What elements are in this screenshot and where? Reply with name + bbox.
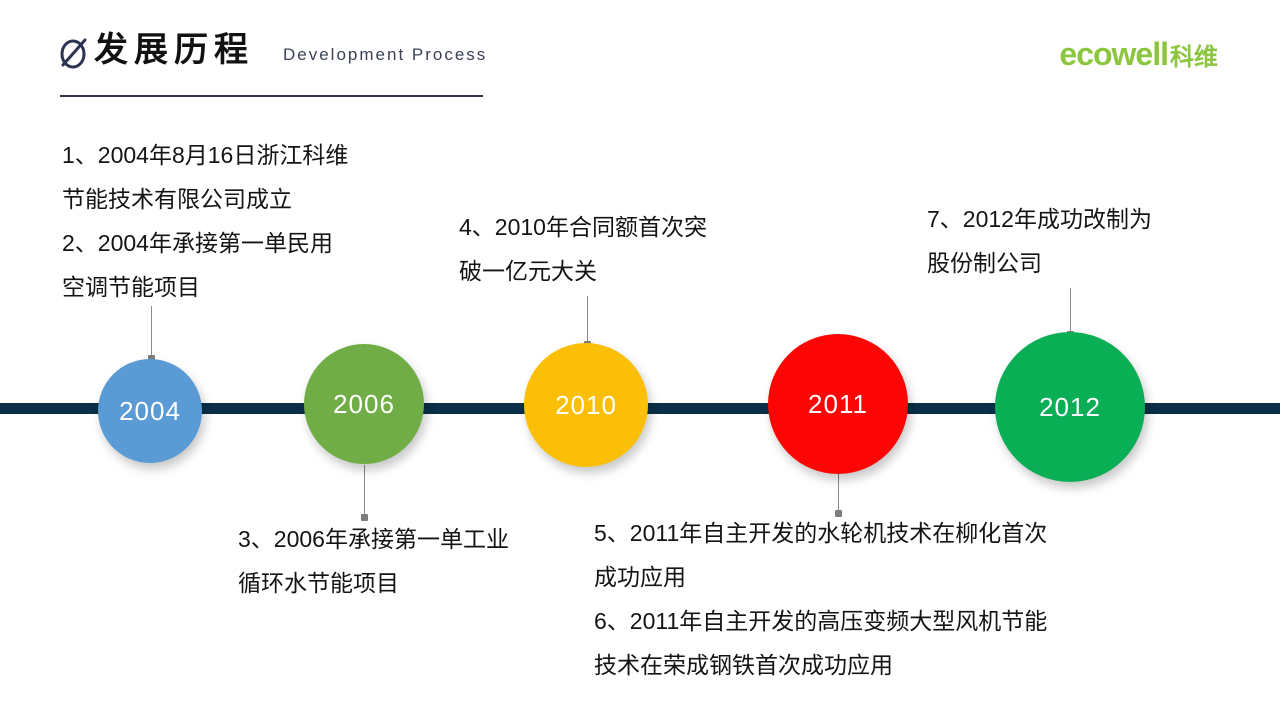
connector-2006 (364, 465, 365, 517)
event-7: 7、2012年成功改制为 股份制公司 (927, 197, 1152, 285)
event-3: 3、2006年承接第一单工业 循环水节能项目 (238, 517, 509, 605)
timeline-node-2010[interactable]: 2010 (524, 343, 648, 467)
timeline-node-label: 2006 (333, 389, 395, 420)
event-5-6: 5、2011年自主开发的水轮机技术在柳化首次 成功应用 6、2011年自主开发的… (594, 511, 1047, 687)
connector-2010 (587, 296, 588, 344)
timeline-node-label: 2012 (1039, 392, 1101, 423)
slide-canvas: 发展历程 Development Process ecowell 科维 2004… (0, 0, 1280, 720)
connector-2012 (1070, 288, 1071, 334)
page-subtitle: Development Process (283, 42, 487, 68)
connector-2011 (838, 473, 839, 513)
slashed-circle-icon (58, 36, 92, 70)
logo-chinese-name: 科维 (1170, 42, 1218, 74)
timeline-node-label: 2011 (808, 389, 868, 420)
header-divider (60, 95, 483, 97)
event-1-2: 1、2004年8月16日浙江科维 节能技术有限公司成立 2、2004年承接第一单… (62, 133, 348, 309)
slide-header: 发展历程 Development Process (58, 28, 698, 98)
page-title: 发展历程 (94, 28, 254, 72)
timeline-node-2004[interactable]: 2004 (98, 359, 202, 463)
timeline-node-label: 2010 (555, 390, 617, 421)
timeline-node-label: 2004 (119, 396, 181, 427)
timeline-node-2011[interactable]: 2011 (768, 334, 908, 474)
logo-wordmark: ecowell (1059, 38, 1168, 70)
timeline-node-2006[interactable]: 2006 (304, 344, 424, 464)
event-4: 4、2010年合同额首次突 破一亿元大关 (459, 205, 707, 293)
brand-logo: ecowell 科维 (1059, 38, 1218, 74)
connector-2004 (151, 306, 152, 358)
timeline-node-2012[interactable]: 2012 (995, 332, 1145, 482)
